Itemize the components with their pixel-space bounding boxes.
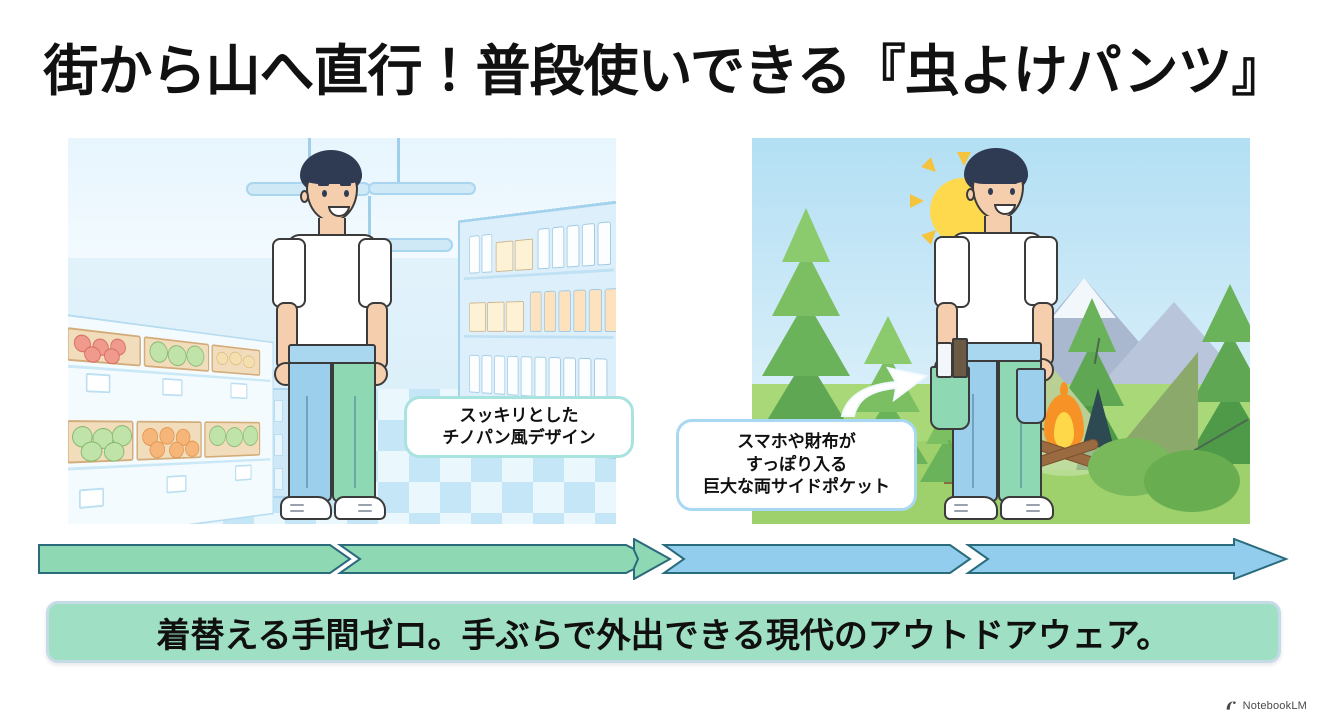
price-tag <box>230 382 247 399</box>
chevron-segment-2 <box>340 539 670 579</box>
callout-2-line-3: 巨大な両サイドポケット <box>703 476 890 498</box>
eyebrow <box>1006 181 1017 184</box>
callout-pockets: スマホや財布が すっぽり入る 巨大な両サイドポケット <box>676 419 917 511</box>
produce-crate <box>144 336 209 372</box>
eye <box>322 190 327 197</box>
produce-shelf <box>68 313 274 524</box>
watermark-label: NotebookLM <box>1243 700 1307 712</box>
chevron-segment-4 <box>968 539 1286 579</box>
price-tag <box>79 488 104 509</box>
produce-crate <box>136 421 201 461</box>
produce-crate <box>212 344 261 376</box>
callout-2-line-1: スマホや財布が <box>703 431 890 453</box>
wallet <box>952 338 968 378</box>
sneaker <box>944 496 998 520</box>
chevron-segment-3 <box>664 545 970 573</box>
sneaker <box>280 496 332 520</box>
trouser-leg-left <box>288 362 332 502</box>
waistband <box>288 344 376 364</box>
eyebrow <box>984 181 995 184</box>
progress-arrow-bar <box>38 538 1290 580</box>
price-tag <box>162 378 182 396</box>
ear <box>966 188 975 201</box>
price-tag <box>166 475 186 494</box>
ear <box>300 190 309 203</box>
eye <box>344 190 349 197</box>
sleeve <box>358 238 392 308</box>
pocket-pointer-arrow <box>838 338 948 418</box>
trouser-crease <box>354 396 356 488</box>
trouser-crease <box>972 394 974 488</box>
sleeve <box>934 236 970 308</box>
callout-design: スッキリとした チノパン風デザイン <box>404 396 634 458</box>
bush <box>1144 450 1240 512</box>
eye <box>988 188 993 195</box>
supermarket-illustration <box>68 138 616 524</box>
callout-1-line-2: チノパン風デザイン <box>442 427 595 449</box>
eyebrow <box>318 183 329 186</box>
callout-1-line-1: スッキリとした <box>442 405 595 427</box>
price-tag <box>235 464 252 481</box>
notebooklm-logo-icon <box>1225 699 1238 712</box>
eye <box>1010 188 1015 195</box>
person-indoor <box>256 146 436 524</box>
slide-canvas: 街から山へ直行！普段使いできる『虫よけパンツ』 <box>0 0 1329 724</box>
sneaker <box>1000 496 1054 520</box>
page-title: 街から山へ直行！普段使いできる『虫よけパンツ』 <box>0 26 1329 106</box>
produce-crate <box>204 421 260 458</box>
sleeve <box>272 238 306 308</box>
sleeve <box>1024 236 1058 306</box>
price-tag <box>86 373 111 393</box>
callout-2-line-2: すっぽり入る <box>703 454 890 476</box>
chevron-segment-1 <box>39 545 350 573</box>
summary-banner: 着替える手間ゼロ。手ぶらで外出できる現代のアウトドアウェア。 <box>46 601 1281 663</box>
person-outdoor <box>920 144 1100 524</box>
trouser-crease <box>306 396 308 488</box>
sneaker <box>334 496 386 520</box>
watermark: NotebookLM <box>1225 699 1307 712</box>
produce-crate <box>68 420 133 464</box>
side-pocket-right <box>1016 368 1046 424</box>
produce-crate <box>68 327 141 366</box>
eyebrow <box>340 183 351 186</box>
